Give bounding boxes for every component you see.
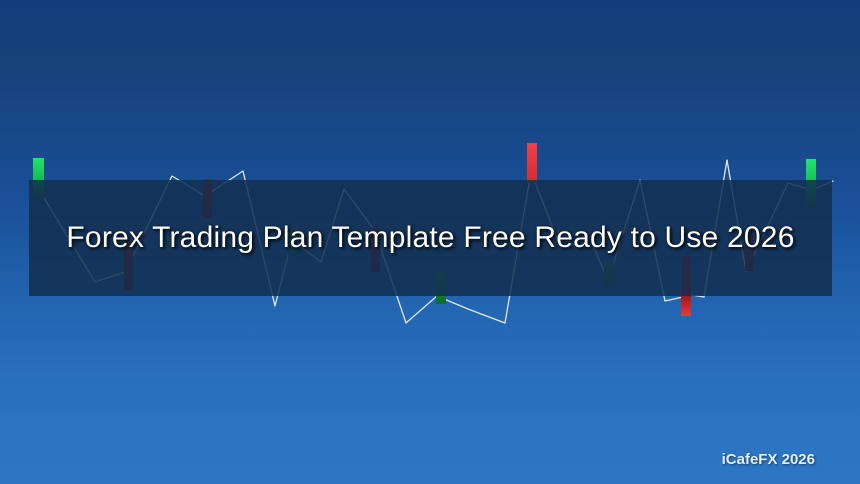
watermark-label: iCafeFX 2026	[722, 451, 815, 468]
candle-down	[527, 143, 537, 183]
page-title: Forex Trading Plan Template Free Ready t…	[29, 180, 832, 296]
banner-image: Forex Trading Plan Template Free Ready t…	[0, 0, 860, 484]
